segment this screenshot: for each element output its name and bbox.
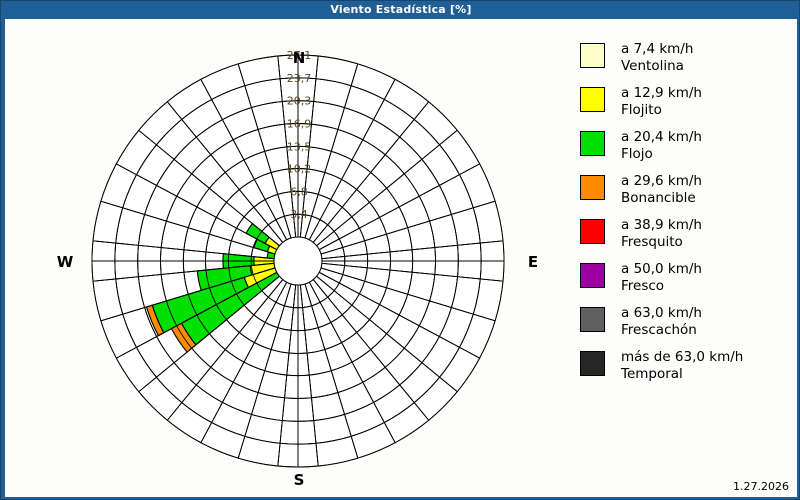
legend-item[interactable]: a 38,9 km/hFresquito	[580, 217, 790, 251]
legend-color-swatch	[580, 219, 605, 244]
legend-label: a 12,9 km/hFlojito	[621, 85, 702, 119]
window-titlebar: Viento Estadística [%]	[1, 1, 800, 18]
radial-tick-label: 6,8	[290, 185, 308, 198]
wind-rose-plot: 3,46,810,213,516,920,323,727,1 N E S W	[5, 19, 575, 497]
compass-label-west: W	[35, 253, 95, 271]
legend-speed-label: a 7,4 km/h	[621, 41, 693, 58]
legend-item[interactable]: a 29,6 km/hBonancible	[580, 173, 790, 207]
date-stamp: 1.27.2026	[733, 480, 789, 493]
legend-label: a 7,4 km/hVentolina	[621, 41, 693, 75]
legend-item[interactable]: a 50,0 km/hFresco	[580, 261, 790, 295]
legend-color-swatch	[580, 263, 605, 288]
compass-label-north: N	[269, 49, 329, 67]
legend-speed-label: a 63,0 km/h	[621, 305, 702, 322]
legend-speed-label: a 12,9 km/h	[621, 85, 702, 102]
compass-label-south: S	[269, 471, 329, 489]
legend-label: a 50,0 km/hFresco	[621, 261, 702, 295]
legend-name-label: Ventolina	[621, 58, 693, 75]
legend-color-swatch	[580, 131, 605, 156]
window-title: Viento Estadística [%]	[330, 3, 471, 16]
wind-rose-window: Viento Estadística [%] 3,46,810,213,516,…	[0, 0, 800, 500]
compass-label-east: E	[503, 253, 563, 271]
legend-name-label: Bonancible	[621, 190, 702, 207]
radial-tick-label: 16,9	[287, 118, 312, 131]
legend-item[interactable]: a 63,0 km/hFrescachón	[580, 305, 790, 339]
legend-speed-label: a 29,6 km/h	[621, 173, 702, 190]
legend-name-label: Fresquito	[621, 234, 702, 251]
legend-name-label: Flojo	[621, 146, 702, 163]
calm-center-hub	[274, 237, 322, 285]
legend-color-swatch	[580, 87, 605, 112]
radial-tick-label: 20,3	[287, 95, 312, 108]
legend-name-label: Frescachón	[621, 322, 702, 339]
legend-speed-label: a 20,4 km/h	[621, 129, 702, 146]
legend-color-swatch	[580, 175, 605, 200]
legend-item[interactable]: a 20,4 km/hFlojo	[580, 129, 790, 163]
legend-item[interactable]: a 12,9 km/hFlojito	[580, 85, 790, 119]
legend-item[interactable]: más de 63,0 km/hTemporal	[580, 349, 790, 383]
radial-tick-label: 13,5	[287, 140, 312, 153]
legend: a 7,4 km/hVentolinaa 12,9 km/hFlojitoa 2…	[580, 41, 790, 393]
legend-color-swatch	[580, 351, 605, 376]
legend-speed-label: a 50,0 km/h	[621, 261, 702, 278]
radial-tick-label: 23,7	[287, 72, 312, 85]
chart-canvas: 3,46,810,213,516,920,323,727,1 N E S W a…	[5, 19, 797, 497]
legend-label: a 63,0 km/hFrescachón	[621, 305, 702, 339]
legend-color-swatch	[580, 43, 605, 68]
radial-tick-label: 3,4	[290, 208, 308, 221]
legend-name-label: Fresco	[621, 278, 702, 295]
legend-label: a 20,4 km/hFlojo	[621, 129, 702, 163]
legend-label: a 38,9 km/hFresquito	[621, 217, 702, 251]
legend-speed-label: más de 63,0 km/h	[621, 349, 743, 366]
legend-item[interactable]: a 7,4 km/hVentolina	[580, 41, 790, 75]
legend-name-label: Temporal	[621, 366, 743, 383]
legend-color-swatch	[580, 307, 605, 332]
legend-speed-label: a 38,9 km/h	[621, 217, 702, 234]
legend-name-label: Flojito	[621, 102, 702, 119]
radial-tick-label: 10,2	[287, 163, 312, 176]
legend-label: más de 63,0 km/hTemporal	[621, 349, 743, 383]
legend-label: a 29,6 km/hBonancible	[621, 173, 702, 207]
